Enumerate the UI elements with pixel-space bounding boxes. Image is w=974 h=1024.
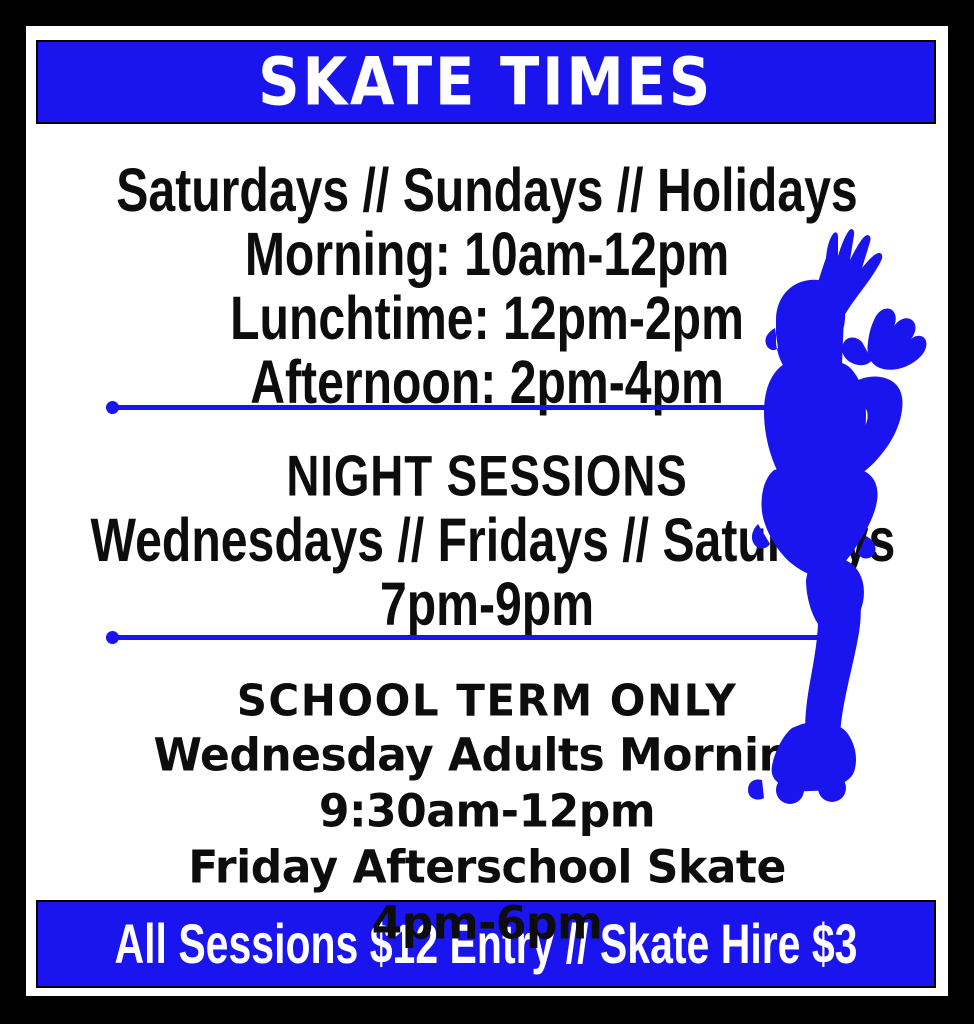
- night-sessions-block: NIGHT SESSIONS Wednesdays // Fridays // …: [26, 446, 948, 636]
- school-term-heading: SCHOOL TERM ONLY: [26, 673, 948, 729]
- divider-dot-icon: [106, 631, 119, 644]
- poster-body: SKATE TIMES Saturdays // Sundays // Holi…: [26, 26, 948, 996]
- day-sessions-block: Saturdays // Sundays // Holidays Morning…: [26, 158, 948, 414]
- divider-line-top: [112, 405, 772, 410]
- page-title: SKATE TIMES: [259, 49, 714, 115]
- divider-dot-icon: [106, 401, 119, 414]
- divider-line-bottom: [112, 635, 852, 640]
- day-session-lunchtime: Lunchtime: 12pm-2pm: [91, 283, 884, 353]
- night-sessions-time: 7pm-9pm: [91, 569, 884, 639]
- poster: SKATE TIMES Saturdays // Sundays // Holi…: [0, 0, 974, 1024]
- school-term-friday-afterschool: Friday Afterschool Skate: [26, 839, 948, 897]
- day-session-morning: Morning: 10am-12pm: [91, 219, 884, 289]
- content-stage: Saturdays // Sundays // Holidays Morning…: [26, 124, 948, 900]
- school-term-wednesday-adults: Wednesday Adults Morning: [26, 727, 948, 785]
- day-sessions-days: Saturdays // Sundays // Holidays: [91, 155, 884, 225]
- school-term-friday-time: 4pm-6pm: [26, 895, 948, 953]
- school-term-block: SCHOOL TERM ONLY Wednesday Adults Mornin…: [26, 674, 948, 952]
- school-term-wednesday-time: 9:30am-12pm: [26, 783, 948, 841]
- title-banner: SKATE TIMES: [36, 40, 936, 124]
- night-sessions-days: Wednesdays // Fridays // Saturdays: [91, 505, 884, 575]
- night-sessions-heading: NIGHT SESSIONS: [81, 443, 892, 511]
